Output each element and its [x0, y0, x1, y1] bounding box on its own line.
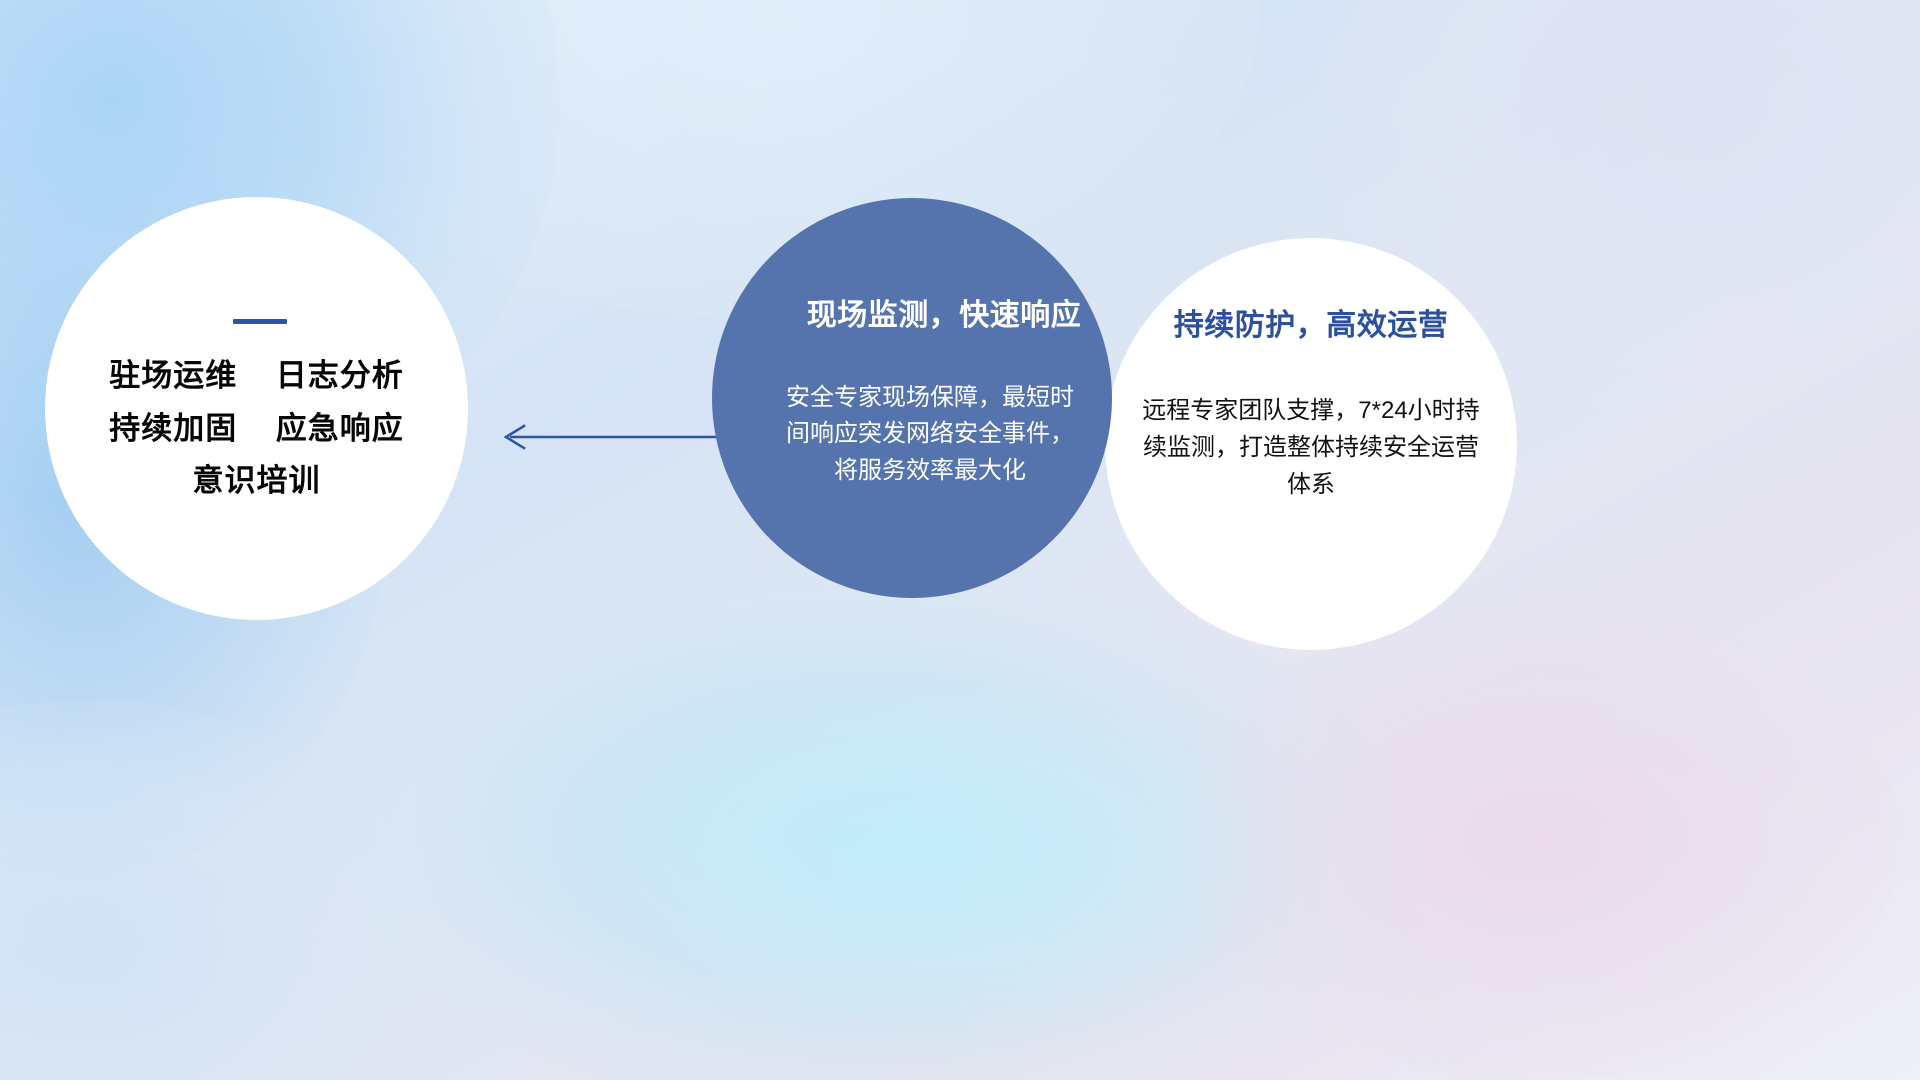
middle-circle-body: 安全专家现场保障，最短时间响应突发网络安全事件，将服务效率最大化: [785, 380, 1075, 489]
middle-service-circle: 现场监测，快速响应 安全专家现场保障，最短时间响应突发网络安全事件，将服务效率最…: [712, 198, 1112, 598]
left-circle-line-1: 驻场运维 日志分析: [109, 360, 403, 393]
right-service-circle: 持续防护，高效运营 远程专家团队支撑，7*24小时持续监测，打造整体持续安全运营…: [1105, 238, 1517, 650]
left-circle-line-2: 持续加固 应急响应: [109, 413, 403, 446]
background-glow-bottom-left: [0, 700, 440, 1080]
left-circle-text-block: 驻场运维 日志分析 持续加固 应急响应 意识培训: [109, 360, 403, 498]
right-circle-body: 远程专家团队支撑，7*24小时持续监测，打造整体持续安全运营体系: [1136, 392, 1486, 504]
background-glow-cyan-core: [620, 690, 1260, 1020]
right-circle-heading: 持续防护，高效运营: [1174, 300, 1449, 344]
left-circle-line-3: 意识培训: [192, 465, 320, 498]
middle-circle-heading: 现场监测，快速响应: [807, 290, 1082, 334]
accent-dash-icon: [233, 319, 287, 324]
left-capability-circle: 驻场运维 日志分析 持续加固 应急响应 意识培训: [45, 197, 468, 620]
slide-canvas: 驻场运维 日志分析 持续加固 应急响应 意识培训 持续防护，高效运营 远程专家团…: [0, 0, 1920, 1080]
background-glow-pink-right: [1180, 600, 1900, 1080]
flow-arrow: [494, 424, 722, 450]
